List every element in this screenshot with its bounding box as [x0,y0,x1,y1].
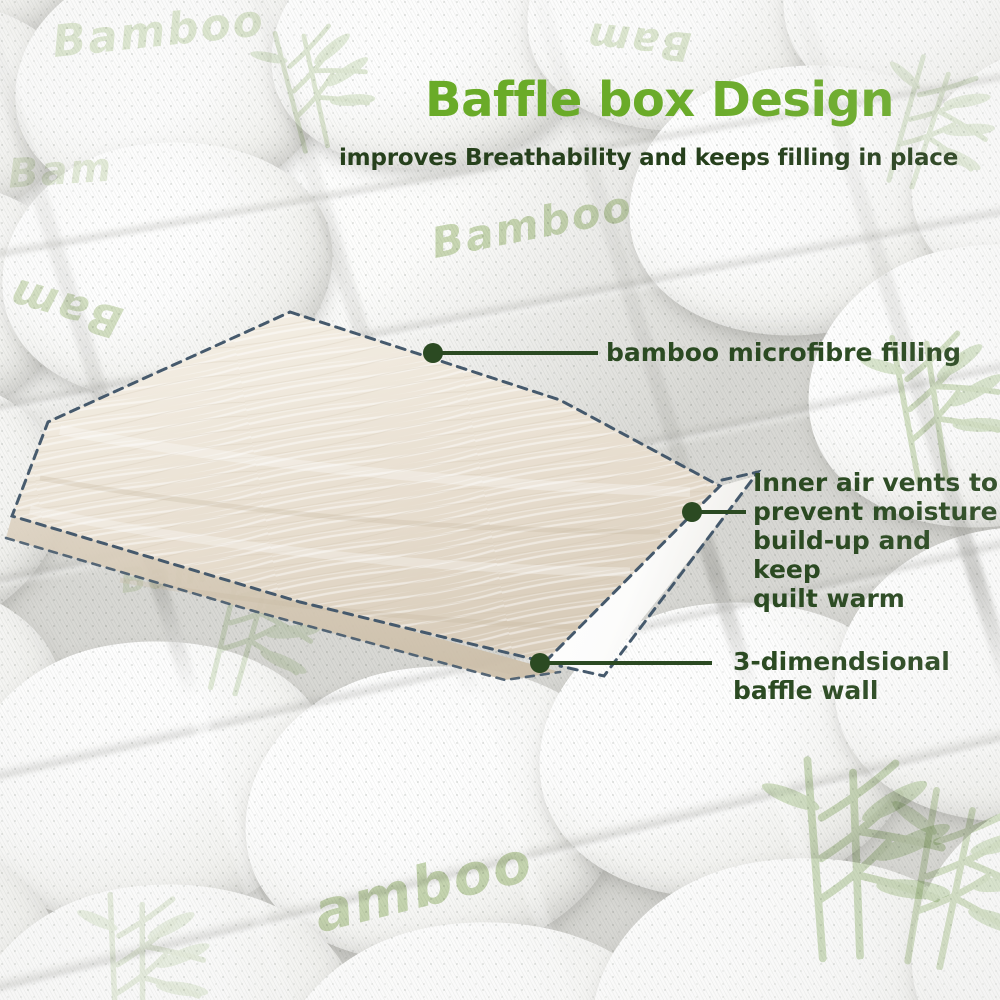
callout-inner-air-vents: Inner air vents to prevent moisture buil… [753,468,1000,613]
callout-3-dimensional-baffle-wall: 3-dimendsional baffle wall [733,647,950,705]
callout-bamboo-microfibre-filling: bamboo microfibre filling [606,338,961,367]
product-photo-infographic: BambooBambooBamBamambooBamBam [0,0,1000,1000]
page-title: Baffle box Design [425,76,894,124]
page-subtitle: improves Breathability and keeps filling… [339,145,958,171]
